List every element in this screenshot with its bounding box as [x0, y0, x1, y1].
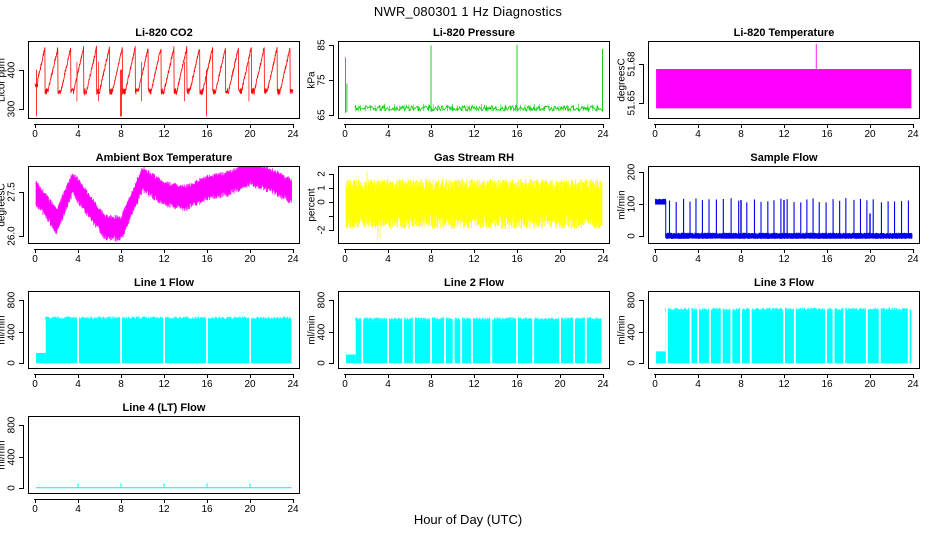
- data-dropout: [361, 317, 363, 364]
- x-tick: [517, 374, 518, 378]
- x-tick: [250, 249, 251, 253]
- data-spike: [676, 202, 677, 238]
- data-spike: [845, 198, 846, 238]
- data-series: [656, 351, 666, 363]
- x-tick: [827, 249, 828, 253]
- data-dropout: [402, 317, 404, 364]
- y-tick: [19, 192, 24, 193]
- x-tick: [517, 249, 518, 253]
- y-axis-label: ml/min: [617, 190, 628, 219]
- data-spike: [602, 104, 603, 111]
- x-tick-label: 12: [158, 504, 169, 515]
- x-tick: [431, 249, 432, 253]
- x-tick-label: 20: [244, 379, 255, 390]
- x-tick-label: 4: [695, 129, 701, 140]
- data-dropout: [573, 317, 575, 364]
- x-tick-label: 4: [385, 129, 391, 140]
- panel-title: Line 2 Flow: [338, 277, 610, 289]
- data-spike: [443, 106, 444, 111]
- y-axis-line: [643, 64, 644, 103]
- x-tick-label: 0: [652, 254, 658, 265]
- series-canvas: [29, 42, 299, 118]
- x-tick: [121, 374, 122, 378]
- data-spike: [592, 105, 593, 111]
- x-tick: [121, 249, 122, 253]
- x-tick: [35, 124, 36, 128]
- y-tick: [329, 45, 334, 46]
- x-tick: [250, 124, 251, 128]
- x-tick: [78, 249, 79, 253]
- x-tick-label: 8: [428, 129, 434, 140]
- y-tick-label: 0: [627, 360, 638, 366]
- y-tick-label: -2: [317, 226, 328, 235]
- x-tick: [560, 124, 561, 128]
- x-tick-label: 24: [597, 254, 608, 265]
- data-dropout: [740, 307, 742, 363]
- x-tick-label: 0: [32, 129, 38, 140]
- x-tick-label: 16: [201, 379, 212, 390]
- data-spike: [794, 202, 795, 238]
- data-spike: [249, 483, 250, 487]
- data-spike: [816, 44, 817, 69]
- figure-title: NWR_080301 1 Hz Diagnostics: [0, 4, 936, 19]
- x-tick-label: 24: [597, 379, 608, 390]
- panel-line-4-lt-flow: Line 4 (LT) Flow048121620240400800ml/min: [0, 402, 300, 520]
- data-dropout: [387, 317, 389, 364]
- data-dropout: [460, 317, 462, 364]
- data-spike: [740, 200, 741, 238]
- data-spike: [389, 106, 390, 111]
- y-tick: [329, 174, 334, 175]
- data-spike: [754, 199, 755, 237]
- data-series: [656, 69, 911, 108]
- x-tick-label: 0: [342, 254, 348, 265]
- data-spike: [120, 483, 121, 487]
- x-tick: [827, 124, 828, 128]
- y-tick: [19, 109, 24, 110]
- data-spike: [380, 202, 381, 238]
- data-spike: [206, 483, 207, 487]
- data-spike: [457, 106, 458, 111]
- plot-area: [338, 166, 610, 244]
- plot-area: [28, 291, 300, 369]
- data-spike: [800, 202, 801, 237]
- y-tick-label: 65: [317, 109, 328, 120]
- panel-li-820-co2: Li-820 CO204812162024300400Licor ppm: [0, 27, 300, 145]
- y-tick: [19, 425, 24, 426]
- x-tick-label: 4: [695, 254, 701, 265]
- data-spike: [141, 62, 142, 102]
- x-tick-label: 16: [511, 129, 522, 140]
- x-tick: [207, 124, 208, 128]
- data-dropout: [879, 307, 881, 363]
- y-axis-line: [23, 192, 24, 236]
- panel-line-2-flow: Line 2 Flow048121620240400800ml/min: [310, 277, 610, 395]
- y-tick-label: 26.0: [7, 226, 18, 245]
- x-tick-label: 8: [118, 504, 124, 515]
- y-axis-label: kPa: [307, 71, 318, 88]
- data-spike: [746, 202, 747, 237]
- data-spike: [767, 201, 768, 238]
- y-tick-label: 800: [7, 292, 18, 309]
- y-tick-label: 1: [317, 185, 328, 191]
- y-tick: [19, 332, 24, 333]
- data-spike: [520, 105, 521, 111]
- x-tick-label: 0: [342, 129, 348, 140]
- data-dropout: [697, 307, 699, 363]
- x-tick-label: 8: [428, 379, 434, 390]
- x-tick: [431, 374, 432, 378]
- plot-area: [28, 416, 300, 494]
- y-tick-label: 0: [317, 360, 328, 366]
- panel-title: Li-820 Pressure: [338, 27, 610, 39]
- x-tick-label: 0: [652, 379, 658, 390]
- data-dropout: [120, 316, 122, 364]
- data-dropout: [453, 317, 455, 364]
- x-tick: [388, 249, 389, 253]
- x-tick-label: 20: [554, 254, 565, 265]
- panel-ambient-box-temperature: Ambient Box Temperature0481216202426.027…: [0, 152, 300, 270]
- panel-li-820-pressure: Li-820 Pressure04812162024657585kPa: [310, 27, 610, 145]
- x-tick-label: 20: [244, 504, 255, 515]
- plot-area: [648, 291, 920, 369]
- plot-area: [28, 41, 300, 119]
- x-tick: [603, 374, 604, 378]
- y-tick: [329, 300, 334, 301]
- data-spike: [702, 200, 703, 238]
- x-tick-label: 0: [32, 379, 38, 390]
- x-tick: [517, 124, 518, 128]
- y-tick: [329, 80, 334, 81]
- data-spike: [806, 199, 807, 237]
- data-spike: [738, 201, 739, 238]
- y-tick-label: 300: [7, 101, 18, 118]
- data-spike: [399, 106, 400, 111]
- panel-title: Li-820 CO2: [28, 27, 300, 39]
- data-spike: [695, 199, 696, 238]
- data-spike: [414, 105, 415, 111]
- y-tick-label: 400: [317, 323, 328, 340]
- data-dropout: [908, 307, 910, 363]
- data-spike: [462, 105, 463, 111]
- data-spike: [860, 199, 861, 238]
- data-spike: [476, 105, 477, 111]
- x-tick: [250, 374, 251, 378]
- x-tick: [388, 374, 389, 378]
- y-axis-label: degreesC: [0, 183, 8, 226]
- y-tick: [329, 115, 334, 116]
- data-spike: [723, 199, 724, 238]
- x-tick-label: 16: [201, 254, 212, 265]
- data-spike: [98, 62, 99, 102]
- data-spike: [819, 202, 820, 238]
- data-spike: [602, 49, 603, 112]
- x-tick-label: 8: [738, 129, 744, 140]
- data-spike: [36, 70, 37, 117]
- x-tick-label: 4: [695, 379, 701, 390]
- x-tick: [164, 124, 165, 128]
- y-tick: [329, 363, 334, 364]
- x-tick: [870, 249, 871, 253]
- x-tick-label: 20: [554, 129, 565, 140]
- data-dropout: [866, 307, 868, 363]
- x-tick: [560, 374, 561, 378]
- y-axis-label: degreesC: [617, 58, 628, 101]
- y-axis-line: [23, 70, 24, 110]
- x-tick: [474, 249, 475, 253]
- data-spike: [716, 199, 717, 237]
- data-spike: [249, 62, 250, 102]
- data-dropout: [783, 307, 785, 363]
- x-tick-label: 24: [597, 129, 608, 140]
- data-spike: [563, 105, 564, 111]
- y-tick-label: 85: [317, 40, 328, 51]
- y-tick: [19, 457, 24, 458]
- data-dropout: [471, 317, 473, 364]
- x-tick-label: 12: [158, 254, 169, 265]
- data-spike: [665, 201, 666, 238]
- y-tick: [19, 70, 24, 71]
- x-tick: [827, 374, 828, 378]
- x-tick-label: 12: [778, 254, 789, 265]
- x-tick-label: 20: [864, 129, 875, 140]
- plot-area: [338, 291, 610, 369]
- y-tick: [329, 230, 334, 231]
- data-spike: [588, 104, 589, 111]
- y-tick: [639, 236, 644, 237]
- y-axis-label: ml/min: [617, 315, 628, 344]
- x-tick: [474, 124, 475, 128]
- x-tick: [870, 124, 871, 128]
- x-tick-label: 24: [907, 129, 918, 140]
- x-tick: [784, 249, 785, 253]
- data-spike: [428, 104, 429, 111]
- panel-line-1-flow: Line 1 Flow048121620240400800ml/min: [0, 277, 300, 395]
- data-dropout: [532, 317, 534, 364]
- data-spike: [525, 105, 526, 111]
- data-spike: [496, 106, 497, 111]
- data-spike: [839, 201, 840, 238]
- x-tick-label: 4: [75, 379, 81, 390]
- y-tick: [639, 363, 644, 364]
- y-axis-label: ml/min: [307, 315, 318, 344]
- data-dropout: [490, 317, 492, 364]
- data-spike: [121, 70, 122, 117]
- x-tick-label: 16: [821, 379, 832, 390]
- x-tick: [698, 374, 699, 378]
- x-tick: [603, 249, 604, 253]
- y-tick-label: 0: [627, 233, 638, 239]
- x-tick-label: 20: [244, 129, 255, 140]
- y-tick: [19, 300, 24, 301]
- x-tick: [345, 374, 346, 378]
- data-spike: [578, 104, 579, 112]
- data-spike: [689, 202, 690, 238]
- series-canvas: [29, 292, 299, 368]
- y-tick: [639, 300, 644, 301]
- data-spike: [355, 106, 356, 111]
- data-series: [36, 353, 46, 363]
- y-tick-label: 400: [627, 323, 638, 340]
- data-spike: [515, 105, 516, 111]
- x-tick-label: 16: [511, 379, 522, 390]
- data-spike: [409, 104, 410, 111]
- x-tick-label: 24: [907, 254, 918, 265]
- data-series: [666, 312, 912, 363]
- x-tick: [164, 374, 165, 378]
- data-spike: [346, 83, 347, 111]
- figure-canvas: NWR_080301 1 Hz Diagnostics Hour of Day …: [0, 0, 936, 540]
- x-tick-label: 8: [118, 129, 124, 140]
- data-spike: [438, 106, 439, 111]
- y-tick-label: 0: [317, 199, 328, 205]
- x-tick: [784, 374, 785, 378]
- x-tick: [698, 124, 699, 128]
- x-tick: [121, 499, 122, 503]
- data-dropout: [730, 307, 732, 363]
- x-tick: [164, 249, 165, 253]
- panel-title: Line 4 (LT) Flow: [28, 402, 300, 414]
- y-tick: [329, 188, 334, 189]
- y-tick-label: 27.5: [7, 182, 18, 201]
- data-dropout: [559, 317, 561, 364]
- x-tick: [741, 249, 742, 253]
- x-tick-label: 24: [287, 504, 298, 515]
- data-spike: [360, 105, 361, 111]
- y-tick-label: 51.68: [627, 51, 638, 76]
- y-tick: [19, 488, 24, 489]
- data-dropout: [206, 316, 208, 364]
- x-tick-label: 8: [428, 254, 434, 265]
- x-tick-label: 16: [201, 129, 212, 140]
- data-dropout: [833, 307, 835, 363]
- x-tick: [698, 249, 699, 253]
- y-tick-label: 800: [7, 417, 18, 434]
- data-spike: [380, 105, 381, 111]
- data-spike: [910, 310, 911, 312]
- plot-area: [338, 41, 610, 119]
- x-tick: [655, 374, 656, 378]
- x-tick: [250, 499, 251, 503]
- data-spike: [467, 106, 468, 112]
- y-tick-label: 400: [7, 448, 18, 465]
- panel-li-820-temperature: Li-820 Temperature0481216202451.6551.68d…: [620, 27, 920, 145]
- x-tick-label: 4: [75, 504, 81, 515]
- data-spike: [911, 234, 912, 238]
- data-dropout: [825, 307, 827, 363]
- data-spike: [901, 201, 902, 238]
- y-tick: [639, 64, 644, 65]
- x-tick-label: 20: [864, 254, 875, 265]
- y-tick: [19, 363, 24, 364]
- data-spike: [423, 104, 424, 111]
- panel-sample-flow: Sample Flow048121620240100200ml/min: [620, 152, 920, 270]
- x-tick-label: 4: [75, 254, 81, 265]
- x-tick: [78, 499, 79, 503]
- data-dropout: [709, 307, 711, 363]
- data-spike: [486, 105, 487, 111]
- data-spike: [433, 104, 434, 111]
- data-spike: [869, 214, 870, 238]
- data-series: [35, 46, 293, 95]
- x-tick: [207, 374, 208, 378]
- data-spike: [184, 62, 185, 102]
- data-spike: [783, 200, 784, 238]
- plot-area: [648, 166, 920, 244]
- panel-title: Ambient Box Temperature: [28, 152, 300, 164]
- data-spike: [888, 201, 889, 238]
- x-tick-label: 12: [778, 379, 789, 390]
- x-tick-label: 20: [244, 254, 255, 265]
- x-tick-label: 24: [287, 379, 298, 390]
- x-tick-label: 8: [118, 254, 124, 265]
- data-dropout: [77, 316, 79, 364]
- x-tick-label: 16: [201, 504, 212, 515]
- data-spike: [77, 62, 78, 102]
- x-tick-label: 16: [511, 254, 522, 265]
- x-tick: [784, 124, 785, 128]
- data-spike: [345, 58, 346, 113]
- y-tick: [19, 236, 24, 237]
- y-tick-label: 51.65: [627, 90, 638, 115]
- data-spike: [394, 104, 395, 111]
- x-tick-label: 12: [158, 129, 169, 140]
- x-tick: [207, 499, 208, 503]
- data-spike: [291, 181, 292, 200]
- x-tick: [345, 124, 346, 128]
- x-tick: [603, 124, 604, 128]
- data-dropout: [249, 316, 251, 364]
- x-tick-label: 4: [75, 129, 81, 140]
- x-tick-label: 8: [738, 379, 744, 390]
- x-tick-label: 12: [468, 129, 479, 140]
- x-tick-label: 16: [821, 129, 832, 140]
- panel-title: Line 1 Flow: [28, 277, 300, 289]
- series-canvas: [339, 167, 609, 243]
- data-spike: [452, 104, 453, 111]
- panel-title: Sample Flow: [648, 152, 920, 164]
- y-tick-label: 400: [7, 61, 18, 78]
- x-tick: [655, 249, 656, 253]
- x-tick: [870, 374, 871, 378]
- data-dropout: [444, 317, 446, 364]
- series-canvas: [339, 292, 609, 368]
- data-spike: [418, 106, 419, 111]
- x-tick-label: 4: [385, 379, 391, 390]
- data-series: [346, 355, 356, 364]
- data-spike: [549, 106, 550, 111]
- x-tick-label: 12: [158, 379, 169, 390]
- data-series: [46, 321, 292, 364]
- x-tick: [345, 249, 346, 253]
- data-spike: [669, 201, 670, 238]
- panel-gas-stream-rh: Gas Stream RH04812162024-2012percent: [310, 152, 610, 270]
- x-tick-label: 0: [32, 254, 38, 265]
- panel-line-3-flow: Line 3 Flow048121620240400800ml/min: [620, 277, 920, 395]
- data-dropout: [413, 317, 415, 364]
- data-dropout: [516, 317, 518, 364]
- data-dropout: [430, 317, 432, 364]
- y-axis-label: ml/min: [0, 315, 8, 344]
- x-tick-label: 24: [287, 129, 298, 140]
- data-spike: [510, 106, 511, 112]
- y-tick: [639, 332, 644, 333]
- y-tick: [639, 204, 644, 205]
- x-tick: [560, 249, 561, 253]
- data-dropout: [666, 307, 668, 363]
- data-spike: [365, 106, 366, 111]
- data-spike: [597, 106, 598, 111]
